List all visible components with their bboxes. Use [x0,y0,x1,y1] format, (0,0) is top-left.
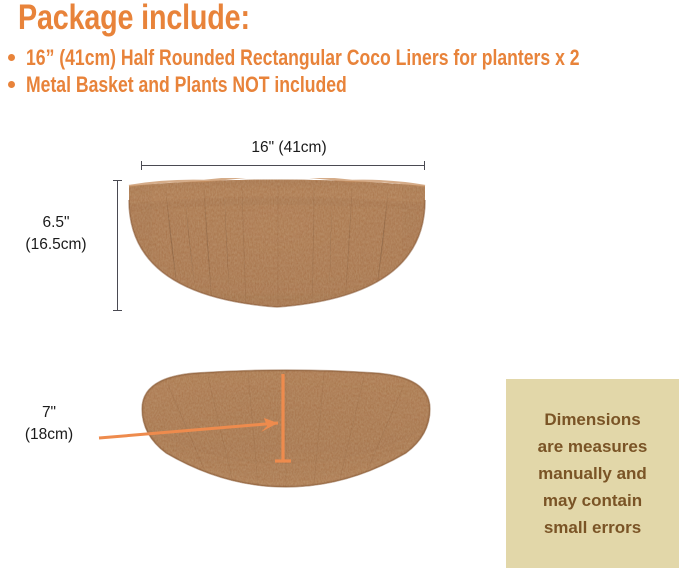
list-item-label: Metal Basket and Plants NOT included [26,72,347,98]
disclaimer-line: manually and [538,460,647,487]
disclaimer-line: are measures [538,433,648,460]
package-contents-list: 16” (41cm) Half Rounded Rectangular Coco… [4,45,679,99]
height-dimension-rule [117,180,118,311]
disclaimer-line: small errors [544,514,641,541]
depth-dimension-label-cm: (18cm) [0,424,98,446]
infographic-canvas: Package include: 16” (41cm) Half Rounded… [0,0,679,568]
width-dimension-label: 16" (41cm) [149,137,429,159]
page-title: Package include: [18,0,250,38]
disclaimer-panel: Dimensions are measures manually and may… [506,379,679,568]
depth-callout [94,368,294,470]
bullet-dot-icon [8,54,15,61]
depth-dimension-label-inches: 7" [0,402,98,424]
coco-liner-front-view [126,178,428,310]
list-item-label: 16” (41cm) Half Rounded Rectangular Coco… [26,45,580,71]
list-item: Metal Basket and Plants NOT included [4,72,679,99]
disclaimer-line: Dimensions [544,406,640,433]
height-dimension-label-inches: 6.5" [0,212,112,234]
height-dimension-label-cm: (16.5cm) [0,234,112,256]
list-item: 16” (41cm) Half Rounded Rectangular Coco… [4,45,679,72]
bullet-dot-icon [8,81,15,88]
width-dimension-rule [141,165,425,166]
disclaimer-line: may contain [543,487,642,514]
